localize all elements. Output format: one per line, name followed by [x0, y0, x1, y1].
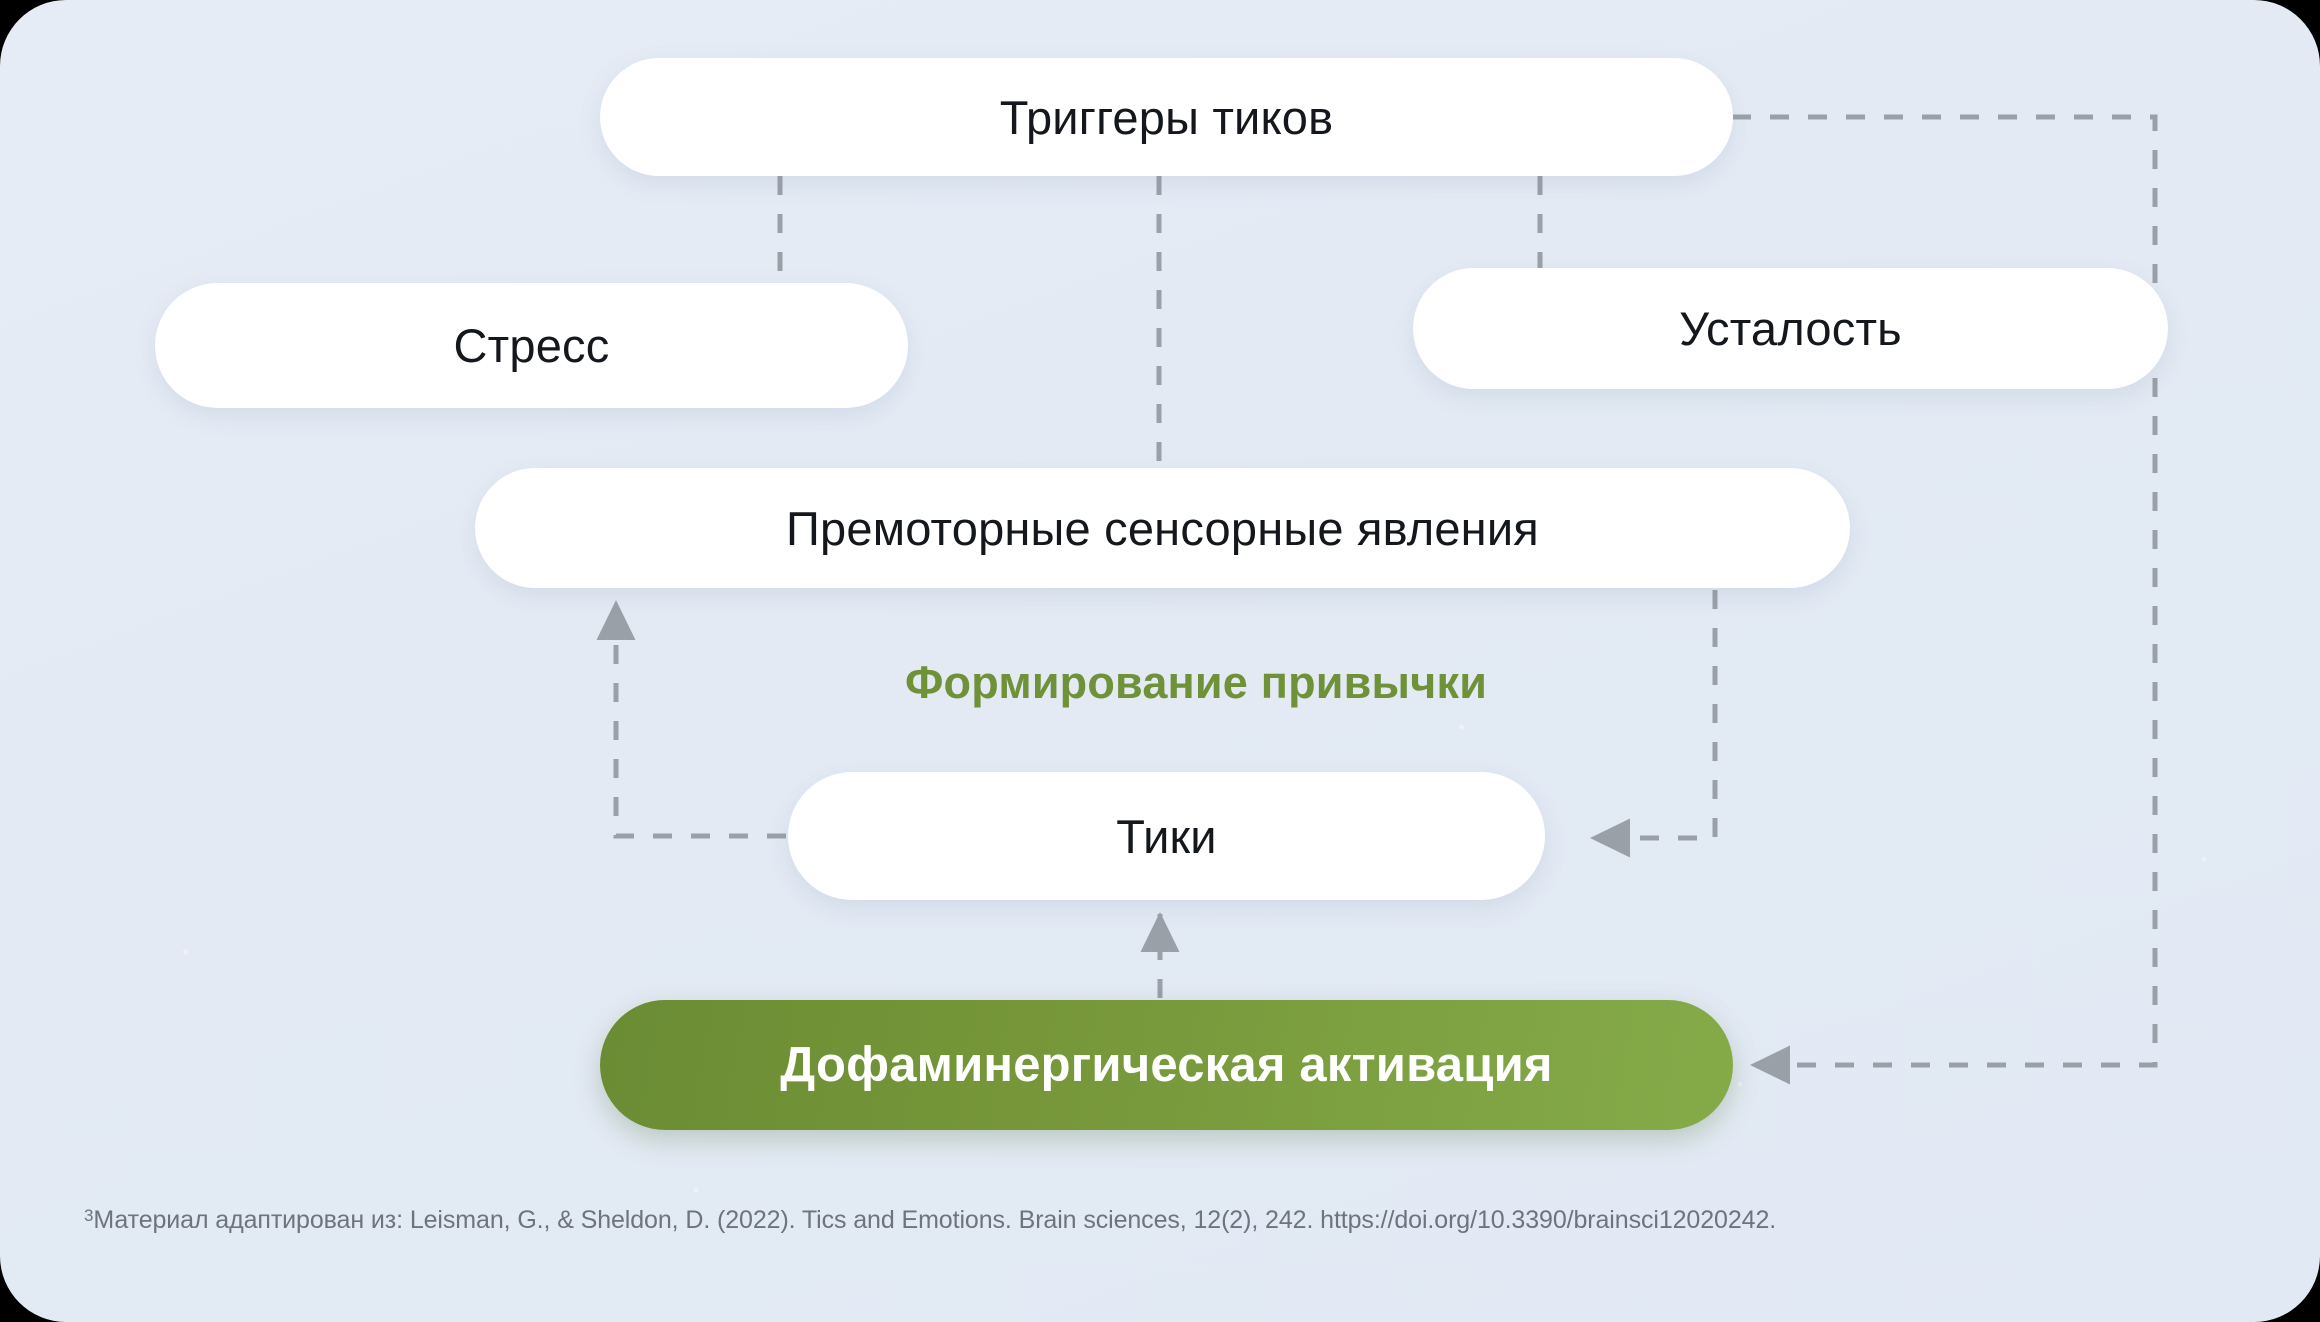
- footnote: 3Материал адаптирован из: Leisman, G., &…: [84, 1206, 1776, 1235]
- node-stress[interactable]: Стресс: [155, 283, 908, 408]
- node-premotor-sensory-phenomena[interactable]: Премоторные сенсорные явления: [475, 468, 1850, 588]
- node-tics-label: Тики: [1116, 809, 1217, 864]
- node-triggers[interactable]: Триггеры тиков: [600, 58, 1733, 176]
- node-tics[interactable]: Тики: [788, 772, 1545, 900]
- footnote-text: Материал адаптирован из: Leisman, G., & …: [93, 1206, 1776, 1234]
- diagram-stage: Триггеры тиков Стресс Усталость Премотор…: [0, 0, 2320, 1322]
- node-dopaminergic-activation[interactable]: Дофаминергическая активация: [600, 1000, 1733, 1130]
- node-stress-label: Стресс: [454, 318, 610, 373]
- footnote-marker: 3: [84, 1206, 93, 1225]
- loop-label-habit-formation: Формирование привычки: [806, 657, 1586, 709]
- node-dopamine-label: Дофаминергическая активация: [780, 1037, 1552, 1093]
- connector-tics-to-premotor: [616, 602, 786, 836]
- node-triggers-label: Триггеры тиков: [1000, 90, 1334, 145]
- connector-premotor-to-tics: [1592, 590, 1715, 838]
- node-premotor-label: Премоторные сенсорные явления: [786, 501, 1539, 556]
- node-fatigue-label: Усталость: [1679, 301, 1902, 356]
- node-fatigue[interactable]: Усталость: [1413, 268, 2168, 389]
- connector-triggers-to-dopamine: [1732, 117, 2155, 1065]
- loop-label-text: Формирование привычки: [905, 657, 1487, 708]
